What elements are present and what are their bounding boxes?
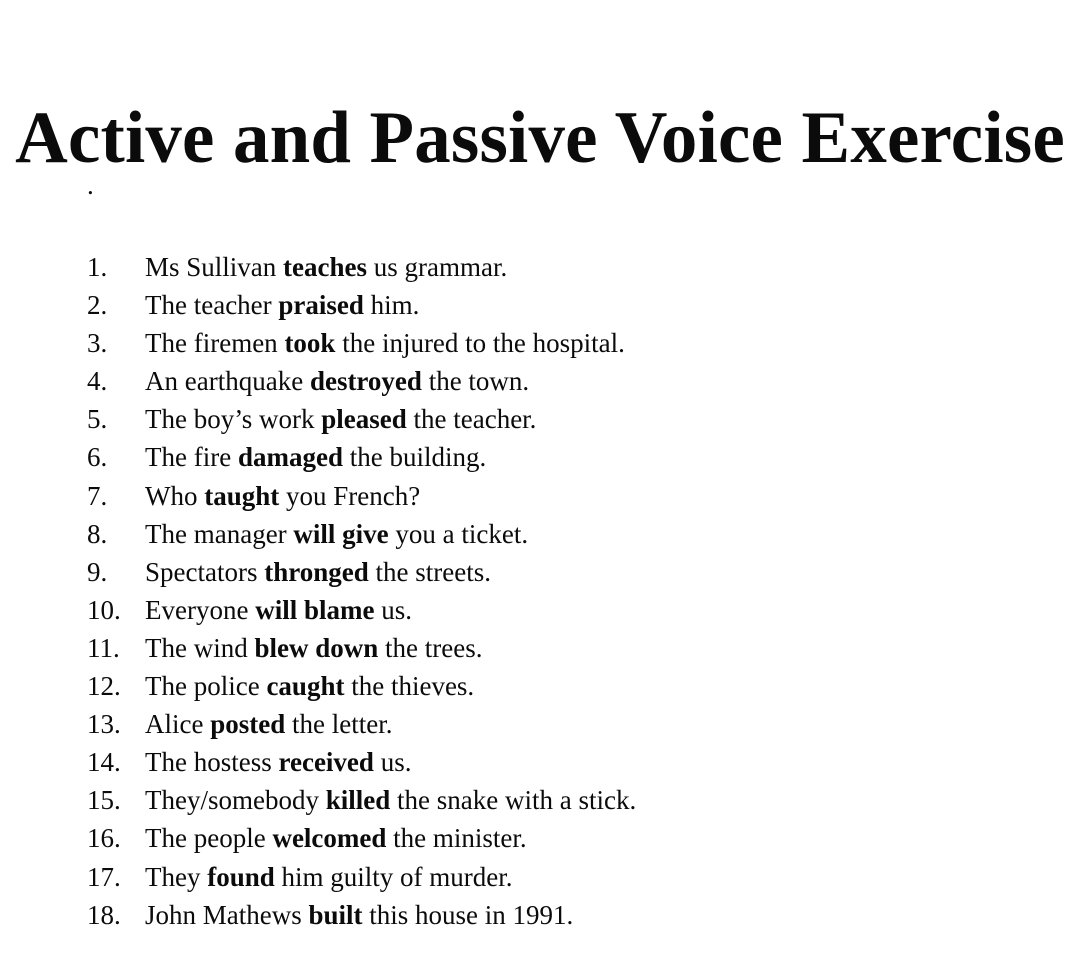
list-item-sentence: The teacher praised him.	[145, 286, 419, 324]
list-item-number: 8.	[0, 515, 145, 553]
list-item: 15.They/somebody killed the snake with a…	[0, 781, 1080, 819]
sentence-verb: welcomed	[272, 823, 386, 853]
sentence-prefix: Ms Sullivan	[145, 252, 283, 282]
sentence-prefix: Alice	[145, 709, 210, 739]
sentence-verb: posted	[210, 709, 285, 739]
list-item: 6.The fire damaged the building.	[0, 438, 1080, 476]
list-item-number: 10.	[0, 591, 145, 629]
list-item-number: 15.	[0, 781, 145, 819]
sentence-suffix: the town.	[422, 366, 529, 396]
list-item: 4.An earthquake destroyed the town.	[0, 362, 1080, 400]
list-item: 8.The manager will give you a ticket.	[0, 515, 1080, 553]
sentence-prefix: They/somebody	[145, 785, 326, 815]
list-item-number: 6.	[0, 438, 145, 476]
list-item-number: 17.	[0, 858, 145, 896]
sentence-prefix: John Mathews	[145, 900, 309, 930]
list-item-sentence: The fire damaged the building.	[145, 438, 486, 476]
sentence-suffix: the letter.	[285, 709, 392, 739]
list-item: 13.Alice posted the letter.	[0, 705, 1080, 743]
sentence-verb: taught	[204, 481, 279, 511]
sentence-suffix: the injured to the hospital.	[335, 328, 624, 358]
list-item-sentence: Everyone will blame us.	[145, 591, 412, 629]
sentence-suffix: the streets.	[369, 557, 491, 587]
list-item-number: 2.	[0, 286, 145, 324]
list-item: 14.The hostess received us.	[0, 743, 1080, 781]
list-item-sentence: Alice posted the letter.	[145, 705, 392, 743]
list-item: 9.Spectators thronged the streets.	[0, 553, 1080, 591]
list-item-number: 1.	[0, 248, 145, 286]
sentence-suffix: the trees.	[378, 633, 482, 663]
list-item: 2.The teacher praised him.	[0, 286, 1080, 324]
sentence-verb: built	[309, 900, 363, 930]
sentence-suffix: the snake with a stick.	[390, 785, 636, 815]
sentence-prefix: The police	[145, 671, 266, 701]
list-item-sentence: The people welcomed the minister.	[145, 819, 527, 857]
list-item: 12.The police caught the thieves.	[0, 667, 1080, 705]
list-item-number: 12.	[0, 667, 145, 705]
list-item-number: 11.	[0, 629, 145, 667]
document-page: Active and Passive Voice Exercise . 1.Ms…	[0, 0, 1080, 959]
sentence-suffix: the teacher.	[407, 404, 537, 434]
sentence-prefix: Everyone	[145, 595, 255, 625]
sentence-verb: pleased	[321, 404, 407, 434]
list-item: 18.John Mathews built this house in 1991…	[0, 896, 1080, 934]
sentence-prefix: The people	[145, 823, 272, 853]
list-item-number: 7.	[0, 477, 145, 515]
sentence-prefix: The fire	[145, 442, 238, 472]
list-item: 3.The firemen took the injured to the ho…	[0, 324, 1080, 362]
list-item-number: 14.	[0, 743, 145, 781]
sentence-prefix: They	[145, 862, 207, 892]
sentence-verb: thronged	[264, 557, 369, 587]
list-item-number: 9.	[0, 553, 145, 591]
list-item-sentence: The firemen took the injured to the hosp…	[145, 324, 625, 362]
sentence-suffix: us grammar.	[367, 252, 507, 282]
sentence-suffix: him.	[364, 290, 420, 320]
sentence-suffix: him guilty of murder.	[275, 862, 513, 892]
list-item-number: 18.	[0, 896, 145, 934]
sentence-verb: received	[278, 747, 373, 777]
list-item-number: 3.	[0, 324, 145, 362]
sentence-prefix: The teacher	[145, 290, 278, 320]
list-item: 1.Ms Sullivan teaches us grammar.	[0, 248, 1080, 286]
sentence-verb: praised	[278, 290, 364, 320]
sentence-verb: will blame	[255, 595, 374, 625]
sentence-prefix: An earthquake	[145, 366, 310, 396]
sentence-prefix: The hostess	[145, 747, 278, 777]
exercise-list: 1.Ms Sullivan teaches us grammar.2.The t…	[0, 248, 1080, 934]
list-item-number: 4.	[0, 362, 145, 400]
list-item-sentence: The manager will give you a ticket.	[145, 515, 528, 553]
list-item-sentence: They/somebody killed the snake with a st…	[145, 781, 636, 819]
sentence-verb: teaches	[283, 252, 367, 282]
list-item: 11.The wind blew down the trees.	[0, 629, 1080, 667]
list-item-sentence: The police caught the thieves.	[145, 667, 474, 705]
sentence-prefix: The firemen	[145, 328, 284, 358]
sentence-suffix: this house in 1991.	[363, 900, 574, 930]
sentence-verb: damaged	[238, 442, 343, 472]
list-item-sentence: An earthquake destroyed the town.	[145, 362, 529, 400]
list-item-sentence: John Mathews built this house in 1991.	[145, 896, 573, 934]
list-item: 17.They found him guilty of murder.	[0, 858, 1080, 896]
sentence-suffix: you French?	[279, 481, 420, 511]
sentence-prefix: The wind	[145, 633, 254, 663]
list-item: 16.The people welcomed the minister.	[0, 819, 1080, 857]
sentence-verb: took	[284, 328, 335, 358]
sentence-verb: found	[207, 862, 275, 892]
sentence-suffix: the minister.	[386, 823, 526, 853]
list-item-number: 13.	[0, 705, 145, 743]
list-item-sentence: The hostess received us.	[145, 743, 411, 781]
sentence-prefix: The boy’s work	[145, 404, 321, 434]
sentence-verb: blew down	[254, 633, 378, 663]
stray-period-paragraph: .	[87, 168, 94, 202]
sentence-suffix: the building.	[343, 442, 486, 472]
sentence-verb: will give	[293, 519, 388, 549]
sentence-suffix: you a ticket.	[389, 519, 528, 549]
list-item-sentence: Who taught you French?	[145, 477, 420, 515]
list-item: 10.Everyone will blame us.	[0, 591, 1080, 629]
list-item-number: 16.	[0, 819, 145, 857]
sentence-verb: killed	[326, 785, 391, 815]
sentence-suffix: us.	[374, 747, 412, 777]
list-item-sentence: The boy’s work pleased the teacher.	[145, 400, 536, 438]
list-item-sentence: They found him guilty of murder.	[145, 858, 513, 896]
list-item: 5.The boy’s work pleased the teacher.	[0, 400, 1080, 438]
list-item-number: 5.	[0, 400, 145, 438]
sentence-prefix: Spectators	[145, 557, 264, 587]
sentence-verb: destroyed	[310, 366, 422, 396]
list-item-sentence: Spectators thronged the streets.	[145, 553, 491, 591]
sentence-prefix: The manager	[145, 519, 293, 549]
sentence-prefix: Who	[145, 481, 204, 511]
sentence-suffix: us.	[374, 595, 412, 625]
page-title: Active and Passive Voice Exercise	[8, 96, 1072, 180]
list-item: 7.Who taught you French?	[0, 477, 1080, 515]
list-item-sentence: Ms Sullivan teaches us grammar.	[145, 248, 507, 286]
list-item-sentence: The wind blew down the trees.	[145, 629, 482, 667]
sentence-suffix: the thieves.	[344, 671, 474, 701]
sentence-verb: caught	[266, 671, 344, 701]
